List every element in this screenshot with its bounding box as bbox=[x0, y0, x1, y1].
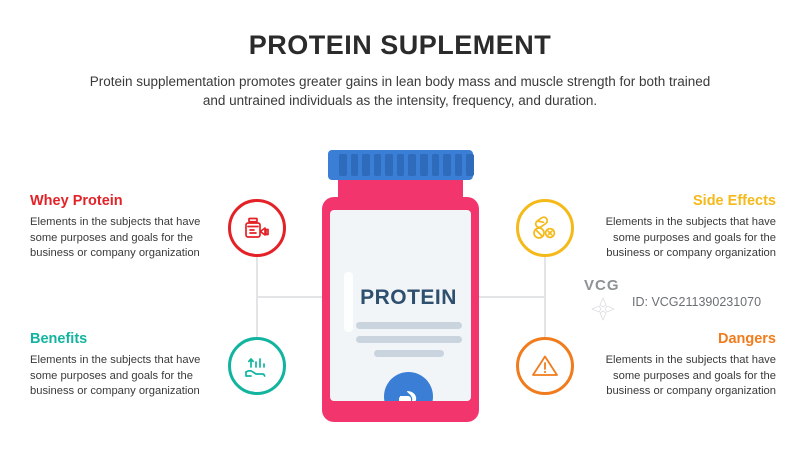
supplement-bottle-icon bbox=[241, 212, 273, 244]
heading-dangers: Dangers bbox=[600, 331, 776, 347]
body-benefits: Elements in the subjects that have some … bbox=[30, 353, 206, 400]
connector-line-right-horizontal bbox=[470, 296, 545, 298]
bottle-label-emblem bbox=[384, 372, 433, 401]
page-title: PROTEIN SUPLEMENT bbox=[0, 30, 800, 61]
bottle-label: PROTEIN bbox=[330, 210, 471, 401]
pills-capsule-icon bbox=[529, 212, 561, 244]
page-subtitle: Protein supplementation promotes greater… bbox=[80, 72, 720, 110]
text-block-dangers: Dangers Elements in the subjects that ha… bbox=[600, 331, 776, 400]
watermark: VCG ID: VCG211390231070 bbox=[572, 272, 800, 332]
text-block-benefits: Benefits Elements in the subjects that h… bbox=[30, 331, 206, 400]
watermark-id: ID: VCG211390231070 bbox=[632, 295, 761, 309]
bottle-label-text-lines bbox=[356, 322, 462, 364]
warning-triangle-icon bbox=[529, 350, 561, 382]
heading-side-effects: Side Effects bbox=[600, 193, 776, 209]
hand-growth-chart-icon bbox=[241, 350, 273, 382]
bottle-cap-ribs bbox=[339, 154, 474, 176]
connector-line-left-horizontal bbox=[257, 296, 332, 298]
bottle-cap bbox=[328, 150, 473, 180]
body-side-effects: Elements in the subjects that have some … bbox=[600, 215, 776, 262]
icon-circle-dangers[interactable] bbox=[516, 337, 574, 395]
watermark-brand: VCG bbox=[584, 277, 620, 294]
heading-benefits: Benefits bbox=[30, 331, 206, 347]
icon-circle-side-effects[interactable] bbox=[516, 199, 574, 257]
bottle-neck bbox=[338, 179, 463, 201]
heading-whey-protein: Whey Protein bbox=[30, 193, 206, 209]
body-whey-protein: Elements in the subjects that have some … bbox=[30, 215, 206, 262]
infographic-canvas: PROTEIN SUPLEMENT Protein supplementatio… bbox=[0, 0, 800, 450]
bottle-label-title: PROTEIN bbox=[338, 286, 471, 310]
icon-circle-benefits[interactable] bbox=[228, 337, 286, 395]
body-dangers: Elements in the subjects that have some … bbox=[600, 353, 776, 400]
icon-circle-whey-protein[interactable] bbox=[228, 199, 286, 257]
vcg-asterisk-logo-icon: VCG bbox=[576, 275, 630, 329]
protein-bottle-illustration: PROTEIN bbox=[322, 150, 479, 422]
text-block-side-effects: Side Effects Elements in the subjects th… bbox=[600, 193, 776, 262]
text-block-whey-protein: Whey Protein Elements in the subjects th… bbox=[30, 193, 206, 262]
